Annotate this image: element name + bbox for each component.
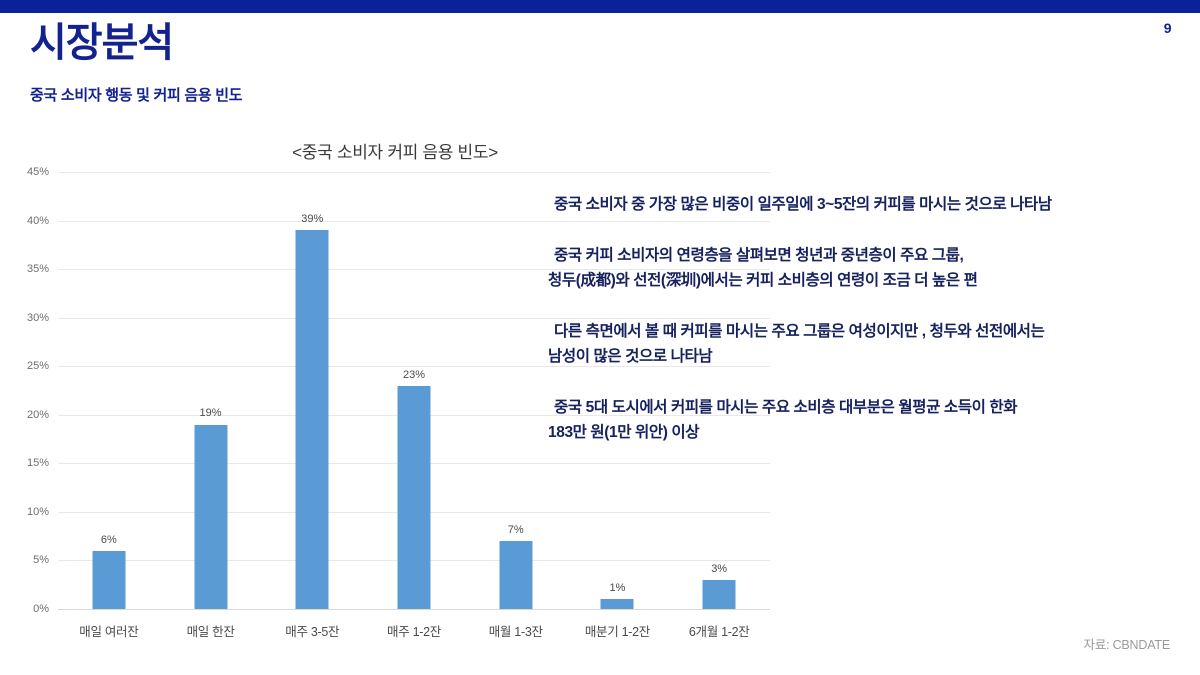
- page-number: 9: [1164, 20, 1172, 36]
- chart-bar[interactable]: [601, 599, 634, 609]
- x-axis-tick-label: 매월 1-3잔: [489, 621, 543, 640]
- commentary-list: 중국 소비자 중 가장 많은 비중이 일주일에 3~5잔의 커피를 마시는 것으…: [548, 176, 1188, 445]
- y-axis-tick-label: 20%: [27, 409, 49, 421]
- y-axis-tick-label: 5%: [33, 554, 49, 566]
- bar-value-label: 7%: [508, 524, 524, 536]
- x-axis-tick-label: 6개월 1-2잔: [689, 621, 750, 640]
- bar-value-label: 19%: [200, 407, 222, 419]
- x-axis-tick-label: 매일 한잔: [187, 621, 235, 640]
- commentary-item: 중국 소비자 중 가장 많은 비중이 일주일에 3~5잔의 커피를 마시는 것으…: [548, 192, 1188, 217]
- y-axis-tick-label: 0%: [33, 603, 49, 615]
- y-axis-tick-label: 35%: [27, 263, 49, 275]
- chart-bar[interactable]: [398, 386, 431, 609]
- bar-value-label: 6%: [101, 534, 117, 546]
- chart-bar[interactable]: [499, 541, 532, 609]
- y-axis-tick-label: 15%: [27, 457, 49, 469]
- bar-value-label: 1%: [609, 582, 625, 594]
- top-accent-bar: [0, 0, 1200, 13]
- chart-bar[interactable]: [92, 551, 125, 609]
- chart-gridline: 45%: [58, 172, 770, 173]
- y-axis-tick-label: 30%: [27, 312, 49, 324]
- chart-title: <중국 소비자 커피 음용 빈도>: [0, 138, 790, 163]
- y-axis-tick-label: 10%: [27, 506, 49, 518]
- chart-gridline: 0%: [58, 609, 770, 610]
- x-axis-tick-label: 매일 여러잔: [79, 621, 138, 640]
- source-caption: 자료: CBNDATE: [1083, 634, 1170, 653]
- bar-value-label: 39%: [301, 213, 323, 225]
- bar-value-label: 23%: [403, 369, 425, 381]
- y-axis-tick-label: 45%: [27, 166, 49, 178]
- x-axis-tick-label: 매주 3-5잔: [285, 621, 339, 640]
- x-axis-tick-label: 매분기 1-2잔: [585, 621, 650, 640]
- commentary-item: 중국 커피 소비자의 연령층을 살펴보면 청년과 중년층이 주요 그룹,청두(成…: [548, 243, 1188, 293]
- commentary-item: 다른 측면에서 볼 때 커피를 마시는 주요 그룹은 여성이지만 , 청두와 선…: [548, 319, 1188, 369]
- page-title: 시장분석: [30, 21, 173, 65]
- chart-bar[interactable]: [296, 230, 329, 609]
- page-subtitle: 중국 소비자 행동 및 커피 음용 빈도: [30, 84, 242, 105]
- bar-value-label: 3%: [711, 563, 727, 575]
- x-axis-tick-label: 매주 1-2잔: [387, 621, 441, 640]
- y-axis-tick-label: 25%: [27, 360, 49, 372]
- chart-bar[interactable]: [703, 580, 736, 609]
- chart-bar[interactable]: [194, 425, 227, 610]
- y-axis-tick-label: 40%: [27, 215, 49, 227]
- slide-canvas: 9 시장분석 중국 소비자 행동 및 커피 음용 빈도 <중국 소비자 커피 음…: [0, 0, 1200, 675]
- commentary-item: 중국 5대 도시에서 커피를 마시는 주요 소비층 대부분은 월평균 소득이 한…: [548, 395, 1188, 445]
